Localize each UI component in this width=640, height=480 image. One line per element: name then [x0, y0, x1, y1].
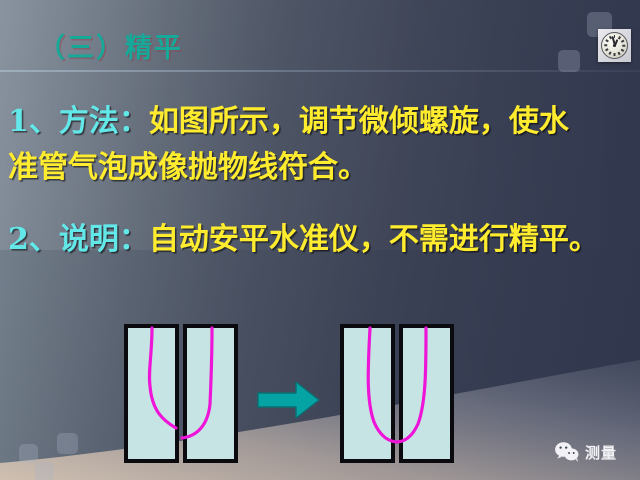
decor-square-bottom-3: [35, 462, 54, 480]
bubble-matched: [340, 324, 450, 463]
title-divider: [0, 70, 640, 72]
wechat-icon: [554, 441, 580, 463]
paragraph-1-lead: 1、方法：: [8, 104, 149, 139]
vial-right-half: [183, 324, 238, 463]
watermark: 测量: [554, 441, 617, 463]
paragraph-1-line-2: 准管气泡成像抛物线符合。: [8, 142, 368, 186]
paragraph-1-body-line-2: 准管气泡成像抛物线符合。: [8, 150, 368, 185]
watermark-label: 测量: [585, 442, 617, 463]
vial-left-half: [340, 324, 395, 463]
clock-face: [601, 32, 628, 59]
paragraph-2-line-1: 2、说明：自动安平水准仪，不需进行精平。: [8, 214, 599, 258]
transition-arrow: [256, 378, 322, 426]
decor-square-top-2: [558, 50, 580, 72]
vial-left-half: [124, 324, 179, 463]
paragraph-2-body-line-1: 自动安平水准仪，不需进行精平。: [149, 222, 599, 257]
paragraph-1-line-1: 1、方法：如图所示，调节微倾螺旋，使水: [8, 96, 569, 140]
page-title: （三）精平: [38, 26, 183, 65]
vial-right-half: [399, 324, 454, 463]
paragraph-1-body-line-1: 如图所示，调节微倾螺旋，使水: [149, 104, 569, 139]
bubble-unmatched: [124, 324, 234, 463]
decor-square-bottom-1: [57, 433, 78, 454]
decor-square-bottom-2: [19, 444, 38, 463]
paragraph-2-lead: 2、说明：: [8, 222, 149, 257]
slide-canvas: （三）精平 1、方法：如图所示，调节微倾螺旋，使水 准管气泡成像抛物线符合。 2…: [0, 0, 640, 480]
clock-icon: [598, 29, 631, 62]
